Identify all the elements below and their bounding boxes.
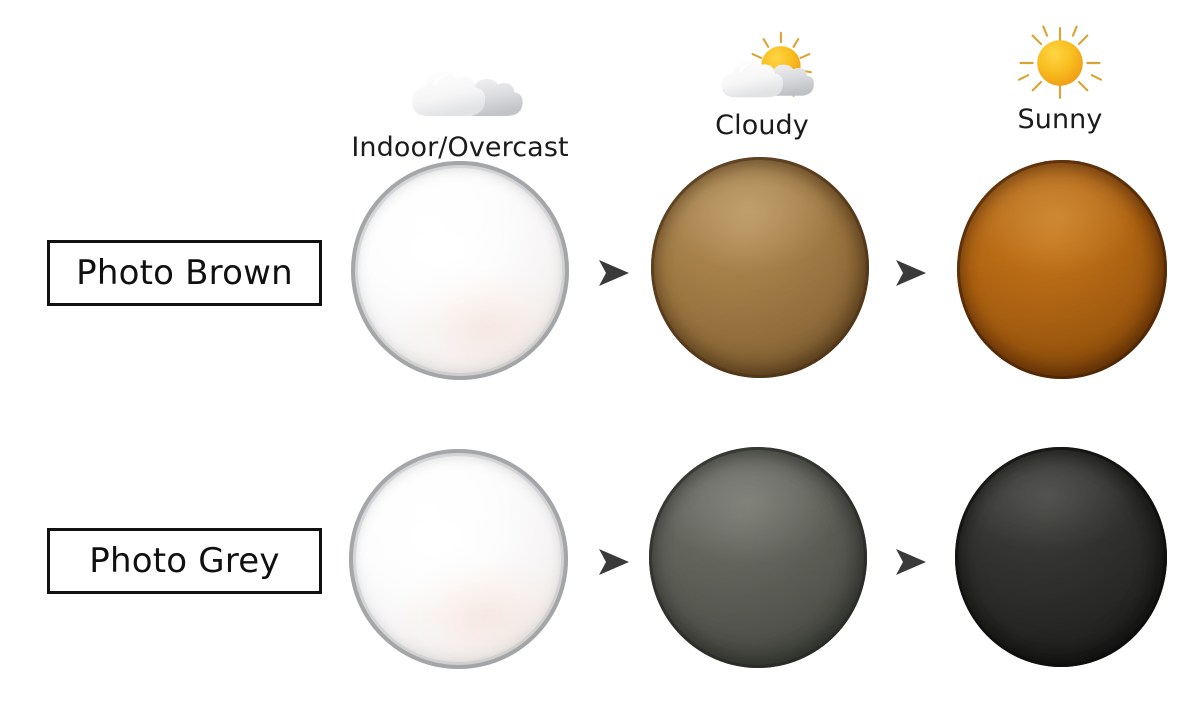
lens-surface <box>957 160 1167 379</box>
row-label-text: Photo Brown <box>76 253 293 293</box>
column-header-cloudy: Cloudy <box>682 28 842 142</box>
lens-surface <box>649 447 867 668</box>
arrow-right-icon <box>593 256 633 290</box>
lens-photo-grey-sunny <box>955 447 1167 667</box>
arrow-right-icon <box>890 256 930 290</box>
column-header-indoor: Indoor/Overcast <box>340 50 580 164</box>
lens-surface <box>351 161 569 380</box>
arrow-right-icon <box>593 545 633 579</box>
lens-comparison-chart: Indoor/Overcast <box>0 0 1200 722</box>
sun-icon <box>980 22 1140 104</box>
column-header-label: Cloudy <box>715 110 809 142</box>
sun-behind-cloud-icon <box>682 28 842 110</box>
row-label-text: Photo Grey <box>89 541 279 581</box>
row-label-photo-grey: Photo Grey <box>47 528 322 594</box>
lens-surface <box>349 449 568 669</box>
column-header-label: Sunny <box>1018 104 1103 136</box>
lens-surface <box>651 157 869 378</box>
lens-surface <box>955 447 1167 667</box>
arrow-right-icon <box>890 545 930 579</box>
row-label-photo-brown: Photo Brown <box>47 240 322 306</box>
lens-photo-brown-sunny <box>957 160 1167 379</box>
lens-photo-grey-cloudy <box>649 447 867 668</box>
lens-photo-brown-indoor <box>351 161 569 380</box>
cloud-icon <box>380 50 540 132</box>
lens-photo-brown-cloudy <box>651 157 869 378</box>
lens-photo-grey-indoor <box>349 449 568 669</box>
column-header-label: Indoor/Overcast <box>351 132 568 164</box>
column-header-sunny: Sunny <box>980 22 1140 136</box>
